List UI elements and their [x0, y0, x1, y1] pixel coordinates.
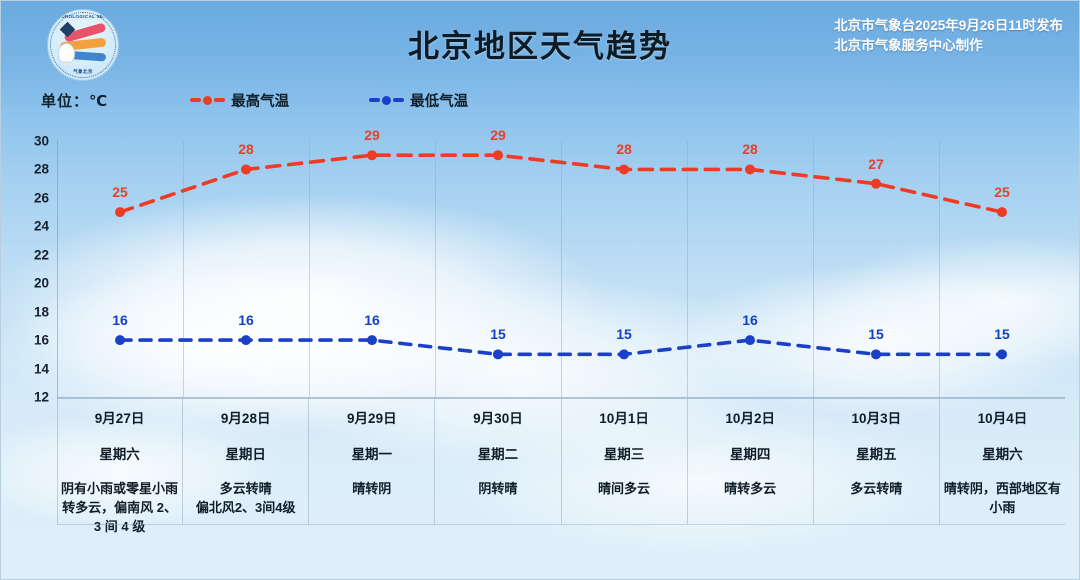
table-bottom-border — [57, 524, 1065, 525]
y-tick-12: 12 — [34, 390, 49, 405]
data-point — [997, 349, 1007, 359]
forecast-column-4[interactable]: 9月30日星期二阴转晴 — [435, 398, 561, 524]
forecast-column-6[interactable]: 10月2日星期四晴转多云 — [688, 398, 814, 524]
issuer-line-1: 北京市气象台2025年9月26日11时发布 — [834, 16, 1063, 36]
legend-marker-high-icon — [188, 96, 227, 105]
data-label: 15 — [616, 326, 632, 342]
y-tick-20: 20 — [34, 276, 49, 291]
data-label: 15 — [994, 326, 1010, 342]
chart-legend: 单位：℃ 最高气温 最低气温 — [41, 89, 546, 111]
data-label: 16 — [112, 312, 128, 328]
forecast-description: 晴转阴 — [309, 479, 434, 498]
data-point — [871, 349, 881, 359]
data-point — [115, 335, 125, 345]
y-tick-22: 22 — [34, 247, 49, 262]
data-label: 28 — [238, 141, 254, 157]
data-label: 29 — [364, 127, 380, 143]
forecast-date: 9月27日 — [95, 407, 145, 427]
forecast-weekday: 星期五 — [856, 443, 897, 463]
forecast-weekday: 星期四 — [730, 443, 771, 463]
data-label: 29 — [490, 127, 506, 143]
forecast-table: 9月27日星期六阴有小雨或零星小雨转多云，偏南风 2、3 间 4 级9月28日星… — [57, 398, 1065, 524]
data-point — [367, 150, 377, 160]
issuer-line-2: 北京市气象服务中心制作 — [834, 36, 1063, 56]
data-label: 25 — [112, 184, 128, 200]
forecast-date: 10月2日 — [725, 407, 775, 427]
unit-label: 单位：℃ — [41, 90, 108, 111]
forecast-column-5[interactable]: 10月1日星期三晴间多云 — [562, 398, 688, 524]
forecast-date: 10月3日 — [852, 407, 902, 427]
forecast-weekday: 星期二 — [478, 443, 519, 463]
data-point — [997, 207, 1007, 217]
y-axis-tick-labels: 30282624222018161412 — [1, 133, 49, 405]
forecast-weekday: 星期六 — [982, 443, 1023, 463]
forecast-date: 10月1日 — [599, 407, 649, 427]
data-label: 15 — [868, 326, 884, 342]
data-point — [241, 335, 251, 345]
forecast-column-3[interactable]: 9月29日星期一晴转阴 — [309, 398, 435, 524]
y-tick-26: 26 — [34, 190, 49, 205]
legend-item-low: 最低气温 — [367, 90, 468, 111]
forecast-description: 阴有小雨或零星小雨转多云，偏南风 2、3 间 4 级 — [57, 479, 182, 536]
forecast-description: 晴转阴，西部地区有小雨 — [940, 479, 1065, 517]
forecast-column-7[interactable]: 10月3日星期五多云转晴 — [814, 398, 940, 524]
data-label: 16 — [742, 312, 758, 328]
data-point — [493, 349, 503, 359]
forecast-weekday: 星期日 — [225, 443, 266, 463]
y-tick-18: 18 — [34, 304, 49, 319]
data-label: 27 — [868, 156, 884, 172]
forecast-description: 晴转多云 — [688, 479, 813, 498]
data-point — [871, 179, 881, 189]
forecast-weekday: 星期六 — [99, 443, 140, 463]
forecast-weekday: 星期一 — [352, 443, 393, 463]
legend-label-high: 最高气温 — [231, 90, 289, 111]
legend-marker-low-icon — [367, 96, 406, 105]
y-tick-30: 30 — [34, 134, 49, 149]
data-point — [619, 164, 629, 174]
forecast-description: 多云转晴 — [814, 479, 939, 498]
data-label: 16 — [238, 312, 254, 328]
data-label: 16 — [364, 312, 380, 328]
y-tick-14: 14 — [34, 361, 49, 376]
forecast-description: 阴转晴 — [435, 479, 560, 498]
logo-top-text: METEOROLOGICAL SERVICE — [47, 14, 119, 19]
forecast-column-2[interactable]: 9月28日星期日多云转晴 偏北风2、3间4级 — [183, 398, 309, 524]
data-point — [619, 349, 629, 359]
data-point — [745, 335, 755, 345]
data-label: 28 — [616, 141, 632, 157]
y-tick-28: 28 — [34, 162, 49, 177]
weather-trend-poster: METEOROLOGICAL SERVICE 气象北京 北京地区天气趋势 北京市… — [0, 0, 1080, 580]
data-point — [241, 164, 251, 174]
issuer-info: 北京市气象台2025年9月26日11时发布 北京市气象服务中心制作 — [834, 16, 1063, 56]
forecast-description: 多云转晴 偏北风2、3间4级 — [183, 479, 308, 517]
data-point — [367, 335, 377, 345]
forecast-column-1[interactable]: 9月27日星期六阴有小雨或零星小雨转多云，偏南风 2、3 间 4 级 — [57, 398, 183, 524]
forecast-date: 9月28日 — [221, 407, 271, 427]
temperature-line-chart: 25282929282827251616161515161515 — [57, 141, 1065, 397]
data-point — [745, 164, 755, 174]
legend-label-low: 最低气温 — [410, 90, 468, 111]
forecast-column-8[interactable]: 10月4日星期六晴转阴，西部地区有小雨 — [940, 398, 1065, 524]
data-label: 15 — [490, 326, 506, 342]
forecast-date: 9月29日 — [347, 407, 397, 427]
series-paths — [57, 141, 1065, 397]
forecast-date: 9月30日 — [473, 407, 523, 427]
logo-bottom-text: 气象北京 — [73, 69, 93, 75]
data-point — [115, 207, 125, 217]
legend-item-high: 最高气温 — [188, 90, 289, 111]
y-tick-16: 16 — [34, 333, 49, 348]
forecast-weekday: 星期三 — [604, 443, 645, 463]
y-tick-24: 24 — [34, 219, 49, 234]
data-label: 28 — [742, 141, 758, 157]
data-label: 25 — [994, 184, 1010, 200]
forecast-date: 10月4日 — [978, 407, 1028, 427]
forecast-description: 晴间多云 — [562, 479, 687, 498]
data-point — [493, 150, 503, 160]
